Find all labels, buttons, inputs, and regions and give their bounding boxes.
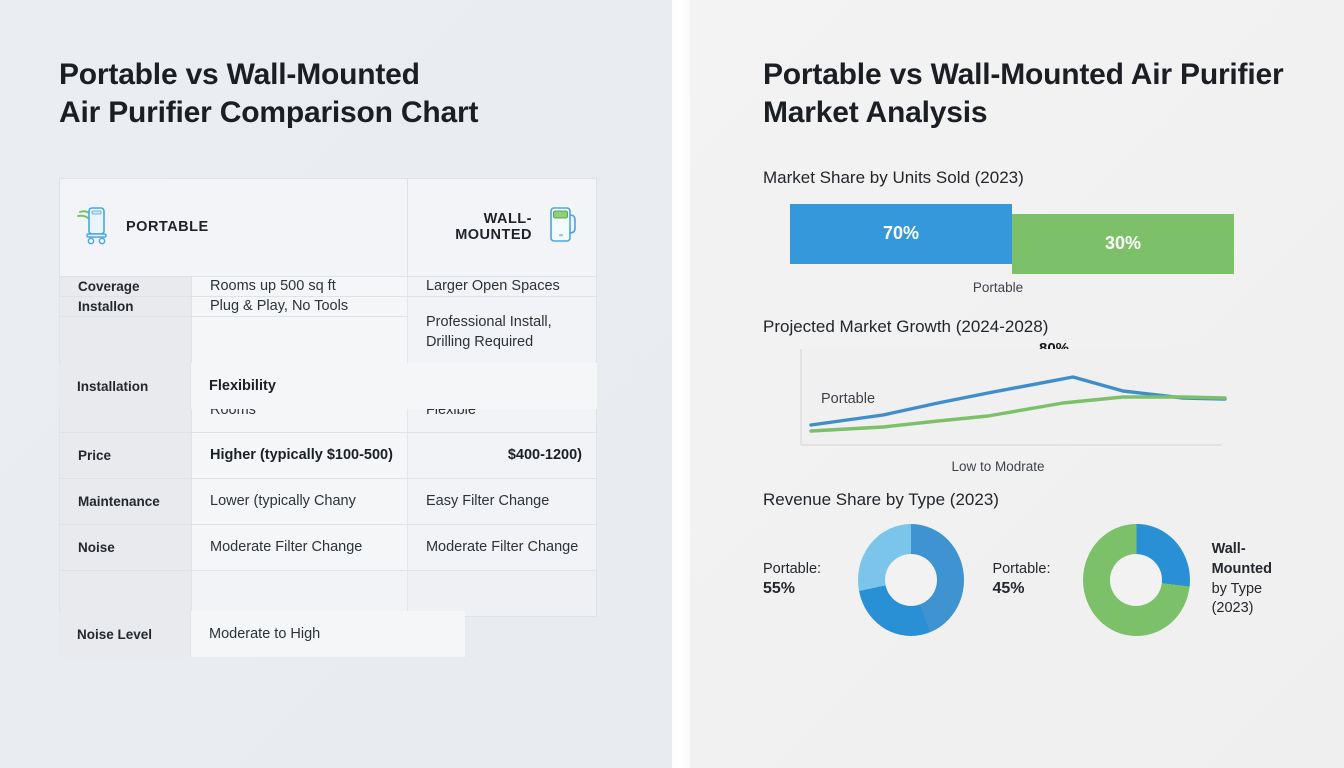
left-panel: Portable vs Wall-Mounted Air Purifier Co… bbox=[0, 0, 672, 768]
header-label-wall-mounted: WALL-MOUNTED bbox=[408, 211, 532, 243]
donut-left-label-value: 55% bbox=[763, 580, 795, 597]
portable-air-purifier-icon bbox=[76, 204, 112, 251]
table-header-row: PORTABLE WALL-MOUNTED bbox=[60, 178, 597, 276]
donut-right-label-line-2: by Type (2023) bbox=[1212, 581, 1263, 617]
row-portable-value: Lower (typically Chany bbox=[192, 479, 408, 525]
row-portable-value: Rooms up 500 sq ft bbox=[192, 276, 408, 296]
row-label: Installon bbox=[60, 297, 192, 317]
right-title-line-1: Portable vs Wall-Mounted Air Purifier bbox=[763, 56, 1344, 94]
donut-mid-label-name: Portable: bbox=[992, 561, 1050, 577]
row-label: Price bbox=[60, 433, 192, 479]
donut-mid-label-value: 45% bbox=[992, 580, 1024, 597]
donut-right-label: Wall-Mounted by Type (2023) bbox=[1212, 540, 1303, 618]
revenue-donuts-row: Portable: 55% Portable: 45% Wall-Mounted… bbox=[763, 524, 1303, 636]
growth-title: Projected Market Growth (2024-2028) bbox=[763, 317, 1283, 337]
row-label-spacer bbox=[60, 317, 192, 369]
growth-inline-label: Portable bbox=[821, 391, 875, 407]
header-cell-wall-mounted: WALL-MOUNTED bbox=[407, 178, 596, 276]
donut-left-label: Portable: 55% bbox=[763, 560, 848, 600]
market-share-bars: 70% 30% bbox=[763, 204, 1283, 274]
left-page-title: Portable vs Wall-Mounted Air Purifier Co… bbox=[59, 56, 672, 132]
overlay-label: Noise Level bbox=[59, 611, 191, 657]
header-cell-portable: PORTABLE bbox=[60, 178, 408, 276]
row-portable-value: Higher (typically $100-500) bbox=[192, 433, 408, 479]
right-page-title: Portable vs Wall-Mounted Air Purifier Ma… bbox=[763, 56, 1344, 132]
row-label: Coverage bbox=[60, 276, 192, 296]
row-label: Maintenance bbox=[60, 479, 192, 525]
bar-segment-wall-mounted: 30% bbox=[1012, 214, 1234, 274]
row-label: Noise bbox=[60, 525, 192, 571]
comparison-infographic: Portable vs Wall-Mounted Air Purifier Co… bbox=[0, 0, 1344, 768]
market-share-caption: Portable bbox=[763, 280, 1233, 295]
wall-mounted-air-purifier-icon bbox=[546, 204, 578, 251]
overlay-label: Installation bbox=[59, 363, 191, 409]
revenue-title: Revenue Share by Type (2023) bbox=[763, 490, 1303, 510]
table-row: Noise Moderate Filter Change Moderate Fi… bbox=[60, 525, 597, 571]
bar-value-wall-mounted: 30% bbox=[1105, 233, 1141, 254]
row-wall-value: $400-1200) bbox=[407, 433, 596, 479]
donut-chart-wall-mounted bbox=[1083, 524, 1189, 636]
right-panel: Portable vs Wall-Mounted Air Purifier Ma… bbox=[690, 0, 1344, 768]
bar-value-portable: 70% bbox=[883, 223, 919, 244]
table-row: Maintenance Lower (typically Chany Easy … bbox=[60, 479, 597, 525]
overlay-row-noise-level: Noise Level Moderate to High bbox=[59, 611, 465, 657]
right-title-line-2: Market Analysis bbox=[763, 94, 1344, 132]
row-wall-value: Professional Install, Drilling Required bbox=[407, 297, 596, 369]
market-share-chart: Market Share by Units Sold (2023) 70% 30… bbox=[763, 168, 1283, 295]
row-portable-value: Plug & Play, No Tools bbox=[192, 297, 408, 317]
donut-left-label-name: Portable: bbox=[763, 561, 821, 577]
growth-plot-area: Portable bbox=[763, 347, 1253, 455]
row-portable-value: Moderate Filter Change bbox=[192, 525, 408, 571]
table-row: Coverage Rooms up 500 sq ft Larger Open … bbox=[60, 276, 597, 296]
market-share-title: Market Share by Units Sold (2023) bbox=[763, 168, 1283, 188]
donut-mid-label: Portable: 45% bbox=[992, 560, 1083, 600]
left-title-line-1: Portable vs Wall-Mounted bbox=[59, 56, 672, 94]
overlay-row-installation: Installation Flexibility bbox=[59, 363, 597, 409]
overlay-value: Flexibility bbox=[191, 363, 597, 409]
donut-chart-portable bbox=[858, 524, 964, 636]
growth-chart: Projected Market Growth (2024-2028) 80% … bbox=[763, 317, 1283, 474]
left-title-line-2: Air Purifier Comparison Chart bbox=[59, 94, 672, 132]
revenue-chart: Revenue Share by Type (2023) Portable: 5… bbox=[763, 490, 1303, 636]
row-wall-value: Moderate Filter Change bbox=[407, 525, 596, 571]
row-portable-value-spacer bbox=[192, 317, 408, 369]
donut-right-label-line-1: Wall-Mounted bbox=[1212, 540, 1303, 579]
panel-divider bbox=[672, 0, 690, 768]
table-row: Installon Plug & Play, No Tools Professi… bbox=[60, 297, 597, 317]
header-label-portable: PORTABLE bbox=[126, 219, 209, 235]
bar-segment-portable: 70% bbox=[790, 204, 1012, 264]
row-wall-value: Larger Open Spaces bbox=[407, 276, 596, 296]
table-row: Price Higher (typically $100-500) $400-1… bbox=[60, 433, 597, 479]
row-wall-value: Easy Filter Change bbox=[407, 479, 596, 525]
overlay-value: Moderate to High bbox=[191, 611, 465, 657]
growth-caption: Low to Modrate bbox=[763, 459, 1233, 474]
